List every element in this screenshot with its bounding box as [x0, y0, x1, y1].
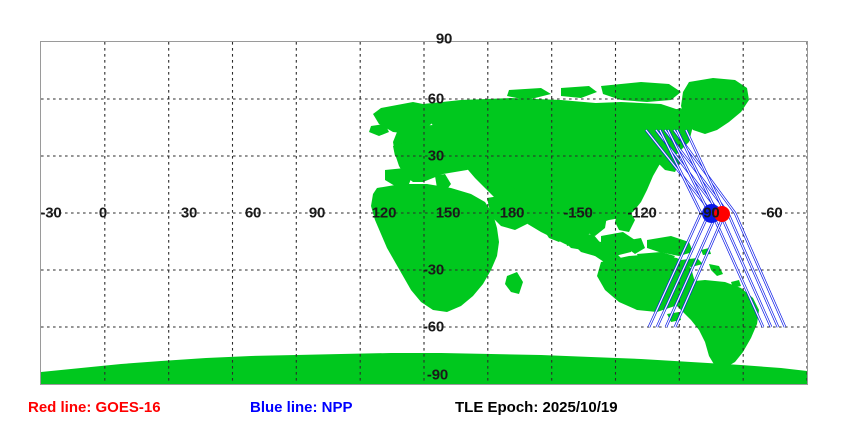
land-madagascar: [505, 272, 523, 294]
satellite-ground-track-figure: -30 0 30 60 90 120 150 180 -150 -120 -90…: [0, 0, 850, 425]
lon-tick-label-180: 180: [500, 206, 524, 221]
lon-tick-label-m150: -150: [563, 206, 592, 221]
legend-tle-epoch: TLE Epoch: 2025/10/19: [455, 400, 618, 415]
lat-tick-label-m30: -30: [423, 263, 444, 278]
lon-tick-label-m60: -60: [761, 206, 782, 221]
legend-npp-entry: Blue line: NPP: [250, 400, 353, 415]
lon-tick-label-m120: -120: [627, 206, 656, 221]
lon-tick-label-0: 0: [99, 206, 107, 221]
land-arctic-island-a: [561, 86, 597, 98]
lat-tick-label-m60: -60: [423, 320, 444, 335]
lon-tick-label-30: 30: [181, 206, 197, 221]
lon-tick-label-60: 60: [245, 206, 261, 221]
lon-tick-label-m90: -90: [698, 206, 719, 221]
legend-goes16-entry: Red line: GOES-16: [28, 400, 161, 415]
map-plot-area: -30 0 30 60 90 120 150 180 -150 -120 -90…: [40, 41, 808, 385]
lon-tick-label-120: 120: [372, 206, 396, 221]
lat-tick-label-m90: -90: [427, 368, 448, 383]
lat-tick-label-90: 90: [436, 32, 452, 47]
lat-tick-label-30: 30: [428, 149, 444, 164]
lon-tick-label-150: 150: [436, 206, 460, 221]
lat-tick-label-60: 60: [428, 92, 444, 107]
land-africa: [371, 184, 499, 312]
lon-tick-label-m30: -30: [40, 206, 61, 221]
figure-legend: Red line: GOES-16 Blue line: NPP TLE Epo…: [0, 396, 850, 422]
lon-tick-label-90: 90: [309, 206, 325, 221]
